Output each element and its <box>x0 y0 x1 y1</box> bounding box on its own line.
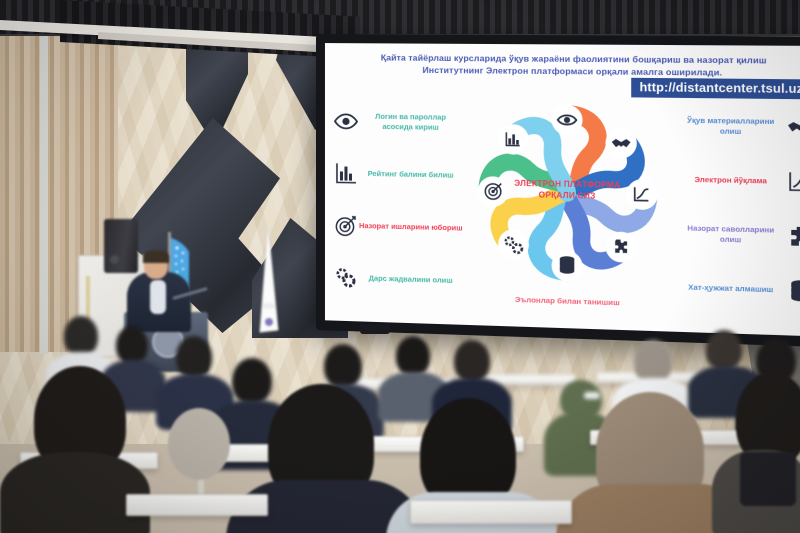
slide-title-line2: Институтнинг Электрон платформаси орқали… <box>341 63 800 79</box>
slide-item-schedule: Дарс жадвалини олиш <box>333 251 463 307</box>
database-icon <box>560 256 574 274</box>
slide-item-label: Рейтинг балини билиш <box>359 169 462 181</box>
audience-head <box>232 358 272 404</box>
cabinet-strip <box>86 276 90 322</box>
slide-item-label: Назорат саволларини олиш <box>676 223 786 246</box>
slide-item-label: Назорат ишларини юбориш <box>359 221 462 234</box>
audience-head <box>176 336 212 378</box>
conference-room: Қайта тайёрлаш курсларида ўқув жараёни ф… <box>0 0 800 533</box>
presentation-screen: Қайта тайёрлаш курсларида ўқув жараёни ф… <box>316 34 800 347</box>
puzzle-icon <box>786 222 800 250</box>
presenter-hair <box>143 250 169 263</box>
slide-item-label: Логин ва пароллар асосида кириш <box>359 112 462 134</box>
slide-item-login: Логин ва пароллар асосида кириш <box>333 95 463 149</box>
window-frame <box>40 18 48 354</box>
slide-item-materials: Ўқув материалларини олиш <box>676 99 800 155</box>
hair-clip <box>584 392 600 399</box>
audience-body-foreground <box>0 452 150 533</box>
slide-item-label: Ўқув материалларини олиш <box>676 115 786 137</box>
audience-head <box>116 326 148 364</box>
slide-item-documents: Хат-ҳужжат алмашиш <box>676 260 800 318</box>
screenshot-root: Қайта тайёрлаш курсларида ўқув жараёни ф… <box>0 0 800 533</box>
audience-head-foreground <box>168 408 230 480</box>
slide-item-attendance: Электрон йўқлама <box>676 153 800 210</box>
eye-icon <box>333 108 359 134</box>
slide-bottom-caption: Эълонлар билан танишиш <box>515 295 620 307</box>
database-icon <box>786 277 800 305</box>
institution-flag <box>246 226 290 338</box>
audience-head <box>324 344 362 388</box>
slide-left-column: Логин ва пароллар асосида кириш Рейтинг … <box>333 95 463 307</box>
screen-mount <box>360 324 390 334</box>
slide-center-text: ЭЛЕКТРОН ПЛАТФОРМА ОРҚАЛИ СИЗ <box>510 179 625 203</box>
slide-right-column: Ўқув материалларини олиш Электрон йўқлам… <box>676 99 800 319</box>
slide-item-questions: Назорат саволларини олиш <box>676 207 800 264</box>
slide-item-control-works: Назорат ишларини юбориш <box>333 199 463 254</box>
audience-head <box>706 330 742 370</box>
gears-icon <box>333 264 359 291</box>
line-graph-icon <box>786 168 800 196</box>
handshake-icon <box>786 114 800 142</box>
desk-foreground <box>410 500 572 524</box>
desk-foreground <box>126 494 268 516</box>
slide-item-label: Электрон йўқлама <box>676 174 786 186</box>
presenter-shirt <box>150 280 166 314</box>
audience-head <box>454 340 490 382</box>
slide-item-rating: Рейтинг балини билиш <box>333 147 463 202</box>
slide-title: Қайта тайёрлаш курсларида ўқув жараёни ф… <box>341 51 800 79</box>
slide-item-label: Дарс жадвалини олиш <box>359 273 462 286</box>
target-icon <box>333 212 359 239</box>
handbag <box>740 452 796 506</box>
slide-canvas: Қайта тайёрлаш курсларида ўқув жараёни ф… <box>325 43 800 336</box>
bar-chart-icon <box>333 160 359 187</box>
slide-item-label: Хат-ҳужжат алмашиш <box>676 282 786 296</box>
audience-head <box>64 316 98 356</box>
loudspeaker <box>104 219 138 273</box>
audience-head <box>396 336 430 376</box>
